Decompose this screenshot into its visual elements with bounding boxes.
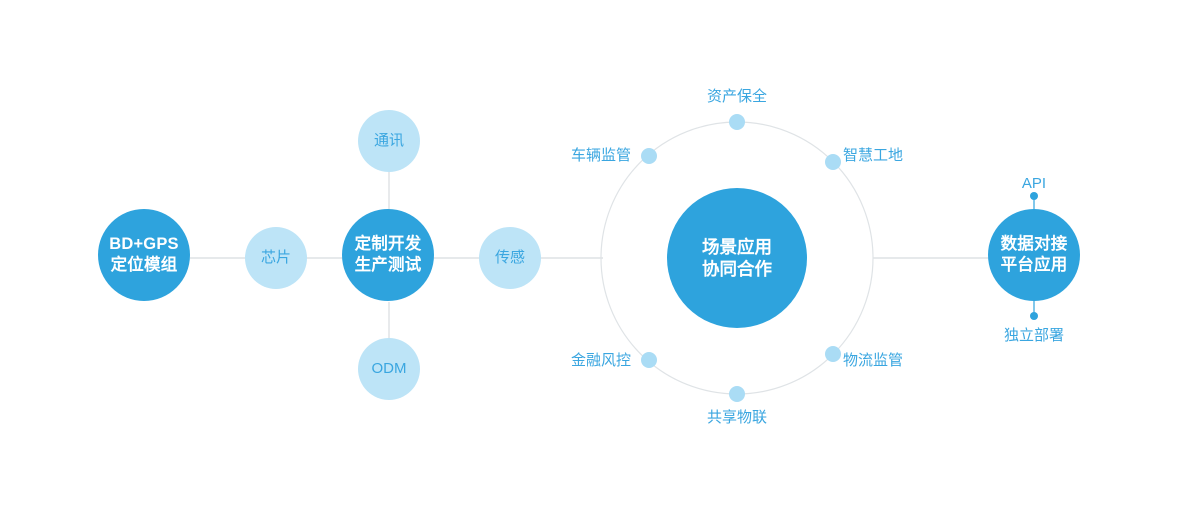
node-odm-label: ODM [372, 359, 407, 378]
independent-deploy-dot-icon [1030, 312, 1038, 320]
node-communication-label: 通讯 [374, 131, 404, 150]
node-bdgps-line1: BD+GPS [109, 234, 179, 255]
ring-dot-bottom-right [825, 346, 841, 362]
node-scenario-center-line2: 协同合作 [702, 258, 772, 280]
node-chip-label: 芯片 [261, 248, 291, 267]
label-api[interactable]: API [974, 176, 1094, 191]
node-bdgps-line2: 定位模组 [111, 255, 178, 276]
ring-label-shared-iot[interactable]: 共享物联 [677, 410, 797, 425]
ring-dot-top-left [641, 148, 657, 164]
node-custom-dev-line2: 生产测试 [355, 255, 422, 276]
node-scenario-center-line1: 场景应用 [702, 236, 772, 258]
ring-dot-top-right [825, 154, 841, 170]
node-custom-dev[interactable]: 定制开发 生产测试 [342, 209, 434, 301]
diagram-canvas: BD+GPS 定位模组 芯片 定制开发 生产测试 通讯 ODM 传感 场景应用 … [0, 0, 1200, 518]
ring-label-asset-security[interactable]: 资产保全 [677, 89, 797, 104]
api-dot-icon [1030, 192, 1038, 200]
node-custom-dev-line1: 定制开发 [355, 234, 422, 255]
node-sensor-label: 传感 [495, 248, 525, 267]
node-data-platform-line1: 数据对接 [1001, 234, 1068, 255]
ring-dot-bottom-left [641, 352, 657, 368]
ring-label-vehicle-supervision[interactable]: 车辆监管 [501, 148, 631, 163]
node-chip[interactable]: 芯片 [245, 227, 307, 289]
ring-label-logistics-supervision[interactable]: 物流监管 [843, 353, 903, 368]
ring-dot-bottom [729, 386, 745, 402]
node-odm[interactable]: ODM [358, 338, 420, 400]
node-data-platform-line2: 平台应用 [1001, 255, 1068, 276]
node-communication[interactable]: 通讯 [358, 110, 420, 172]
ring-label-financial-risk-control[interactable]: 金融风控 [501, 353, 631, 368]
ring-label-smart-site[interactable]: 智慧工地 [843, 148, 903, 163]
node-bdgps[interactable]: BD+GPS 定位模组 [98, 209, 190, 301]
node-sensor[interactable]: 传感 [479, 227, 541, 289]
node-data-platform[interactable]: 数据对接 平台应用 [988, 209, 1080, 301]
label-independent-deploy[interactable]: 独立部署 [974, 328, 1094, 343]
ring-dot-top [729, 114, 745, 130]
node-scenario-center[interactable]: 场景应用 协同合作 [667, 188, 807, 328]
